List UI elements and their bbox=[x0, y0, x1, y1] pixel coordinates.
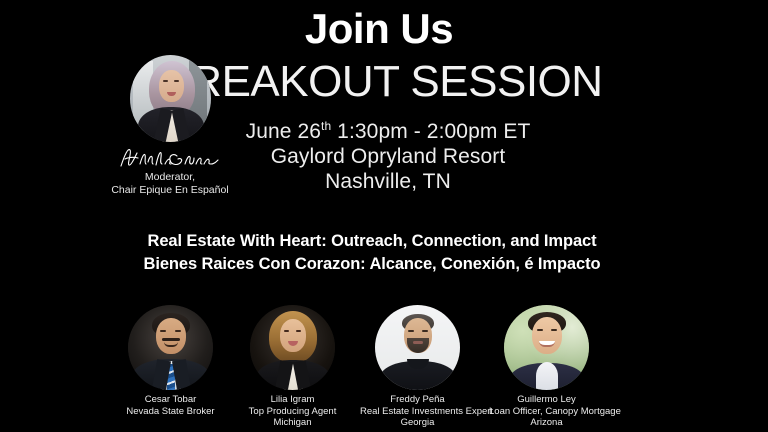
speaker-name: Freddy Peña bbox=[360, 394, 475, 406]
speaker-card: Lilia Igram Top Producing Agent Michigan bbox=[235, 305, 350, 429]
speaker-photo bbox=[128, 305, 213, 390]
speaker-card: Cesar Tobar Nevada State Broker bbox=[113, 305, 228, 417]
speaker-location: Georgia bbox=[360, 417, 475, 429]
event-flyer: Join Us BREAKOUT SESSION June 26th 1:30p… bbox=[0, 0, 768, 432]
speaker-caption: Cesar Tobar Nevada State Broker bbox=[113, 394, 228, 417]
speaker-photo bbox=[250, 305, 335, 390]
speaker-name: Guillermo Ley bbox=[489, 394, 604, 406]
speaker-location: Arizona bbox=[489, 417, 604, 429]
speaker-name: Lilia Igram bbox=[235, 394, 350, 406]
date-ordinal-suffix: th bbox=[321, 119, 331, 133]
speaker-title: Nevada State Broker bbox=[113, 406, 228, 418]
moderator-block: Moderator, Chair Epique En Español bbox=[95, 55, 245, 196]
speaker-caption: Guillermo Ley Loan Officer, Canopy Mortg… bbox=[489, 394, 604, 429]
session-title-spanish: Bienes Raices Con Corazon: Alcance, Cone… bbox=[0, 253, 756, 276]
session-title-block: Real Estate With Heart: Outreach, Connec… bbox=[0, 230, 756, 276]
speaker-name: Cesar Tobar bbox=[113, 394, 228, 406]
moderator-role-line2: Chair Epique En Español bbox=[111, 184, 228, 196]
speaker-title: Real Estate Investments Expert bbox=[360, 406, 475, 418]
speaker-location: Michigan bbox=[235, 417, 350, 429]
speaker-card: Freddy Peña Real Estate Investments Expe… bbox=[360, 305, 475, 429]
moderator-signature bbox=[95, 144, 245, 170]
moderator-role: Moderator, Chair Epique En Español bbox=[95, 171, 245, 196]
moderator-role-line1: Moderator, bbox=[145, 171, 195, 183]
speaker-card: Guillermo Ley Loan Officer, Canopy Mortg… bbox=[489, 305, 604, 429]
speaker-title: Top Producing Agent bbox=[235, 406, 350, 418]
page-title-join-us: Join Us bbox=[0, 6, 763, 52]
speaker-photo bbox=[375, 305, 460, 390]
speakers-row: Cesar Tobar Nevada State Broker bbox=[0, 305, 768, 432]
speaker-title: Loan Officer, Canopy Mortgage bbox=[489, 406, 604, 418]
speaker-photo bbox=[504, 305, 589, 390]
session-title-english: Real Estate With Heart: Outreach, Connec… bbox=[0, 230, 756, 253]
speaker-caption: Freddy Peña Real Estate Investments Expe… bbox=[360, 394, 475, 429]
event-date: June 26 bbox=[246, 120, 321, 143]
event-time-range: 1:30pm - 2:00pm ET bbox=[331, 120, 530, 143]
speaker-caption: Lilia Igram Top Producing Agent Michigan bbox=[235, 394, 350, 429]
moderator-photo bbox=[130, 55, 211, 142]
